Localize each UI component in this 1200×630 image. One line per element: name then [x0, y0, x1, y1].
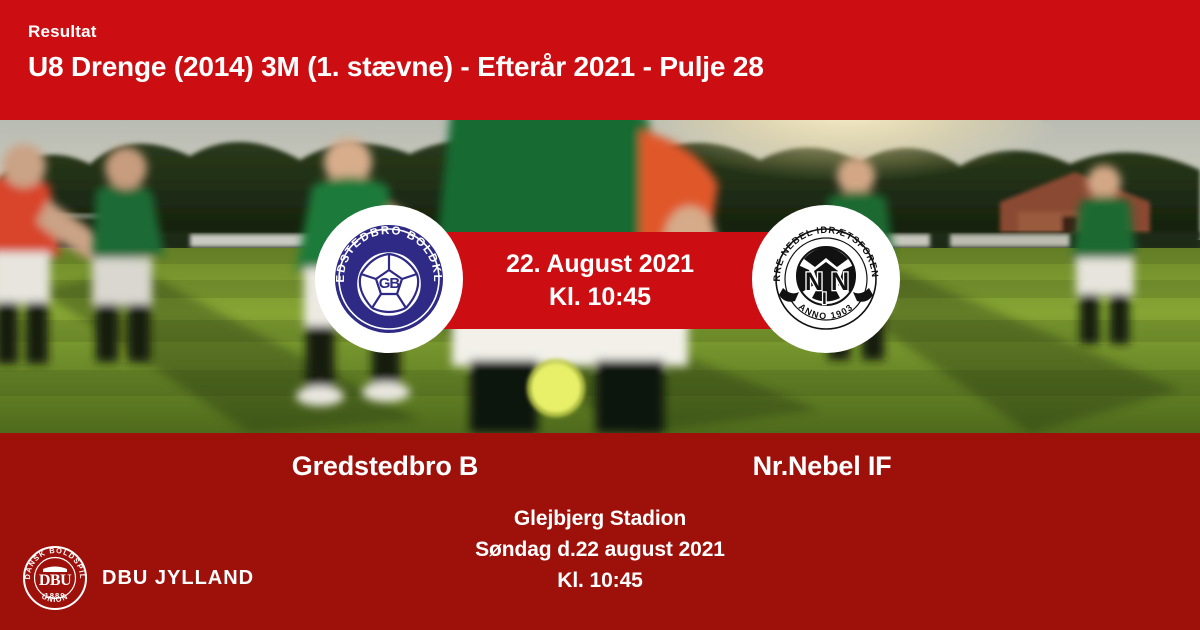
match-date: 22. August 2021 [506, 249, 694, 280]
gredstedbro-boldklub-crest-icon: GREDSTEDBRO BOLDKLUB GB [328, 218, 450, 340]
home-team-name: Gredstedbro B [175, 446, 595, 486]
svg-text:N: N [805, 268, 823, 296]
header-kicker: Resultat [28, 22, 1200, 42]
svg-text:1889: 1889 [45, 591, 66, 600]
venue-name: Glejbjerg Stadion [300, 503, 900, 534]
dbu-jylland-label: DBU JYLLAND [102, 567, 254, 590]
page-title: U8 Drenge (2014) 3M (1. stævne) - Efterå… [28, 50, 1200, 84]
match-time-line: Kl. 10:45 [300, 565, 900, 596]
match-day-line: Søndag d.22 august 2021 [300, 534, 900, 565]
venue-details: Glejbjerg Stadion Søndag d.22 august 202… [300, 503, 900, 596]
away-team-name: Nr.Nebel IF [612, 446, 1032, 486]
home-club-crest: GREDSTEDBRO BOLDKLUB GB [315, 205, 463, 353]
dbu-jylland-brand: DANSK BOLDSPIL UNION DBU 1889 DBU JYLLAN… [22, 545, 254, 611]
svg-text:N: N [831, 268, 849, 296]
match-result-card: Resultat U8 Drenge (2014) 3M (1. stævne)… [0, 0, 1200, 630]
dbu-logo-icon: DANSK BOLDSPIL UNION DBU 1889 [22, 545, 88, 611]
footer-bar: Gredstedbro B Nr.Nebel IF Glejbjerg Stad… [0, 433, 1200, 630]
svg-text:I: I [822, 289, 827, 308]
away-club-crest: NØRRE NEBEL IDRÆTSFORENING N N I ANNO 19… [752, 205, 900, 353]
nr-nebel-if-crest-icon: NØRRE NEBEL IDRÆTSFORENING N N I ANNO 19… [765, 218, 887, 340]
match-time: Kl. 10:45 [549, 282, 651, 313]
svg-text:GB: GB [379, 275, 401, 292]
svg-text:DBU: DBU [39, 572, 72, 589]
team-names-row: Gredstedbro B Nr.Nebel IF [0, 446, 1200, 490]
header-bar: Resultat U8 Drenge (2014) 3M (1. stævne)… [0, 0, 1200, 120]
